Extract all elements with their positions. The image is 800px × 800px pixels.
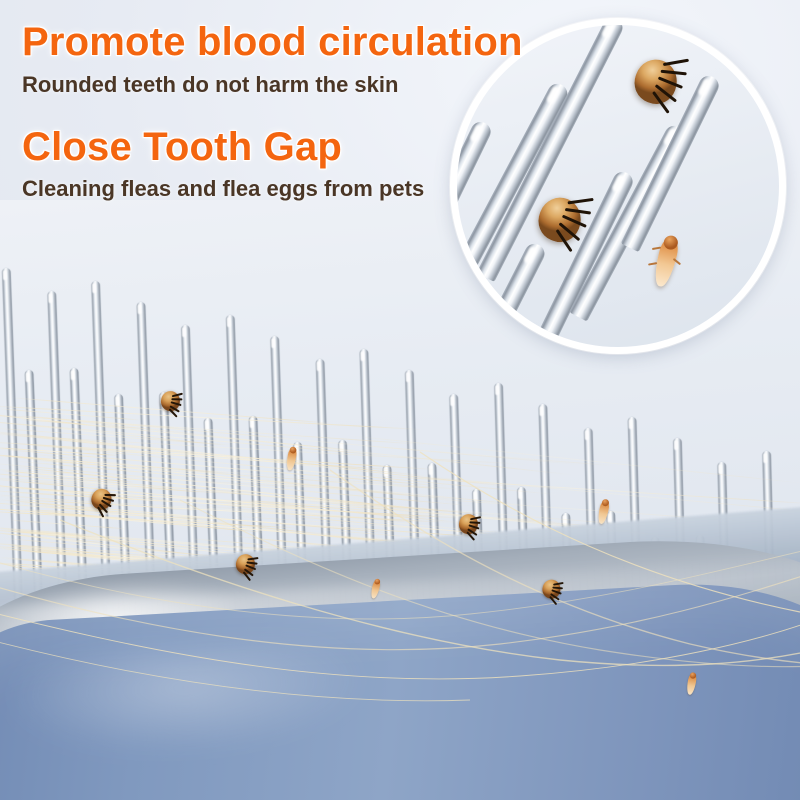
tick bbox=[155, 387, 185, 416]
magnifier-contents bbox=[457, 25, 779, 347]
parasite-leg bbox=[172, 393, 183, 398]
parasite-leg bbox=[553, 582, 564, 586]
magnified-detail-circle bbox=[450, 18, 786, 354]
parasite-leg bbox=[568, 198, 594, 205]
headline-secondary: Close Tooth Gap bbox=[22, 127, 342, 167]
parasite-leg bbox=[171, 398, 182, 400]
parasite-leg bbox=[469, 521, 480, 524]
parasite-leg bbox=[663, 59, 689, 66]
subhead-primary: Rounded teeth do not harm the skin bbox=[22, 72, 398, 98]
parasite-leg bbox=[104, 494, 116, 497]
magnified-flea bbox=[649, 235, 682, 289]
magnified-comb-pin bbox=[471, 240, 548, 354]
headline-primary: Promote blood circulation bbox=[22, 22, 523, 62]
magnified-tick bbox=[618, 47, 690, 116]
parasite-leg bbox=[470, 516, 481, 520]
parasite-leg bbox=[247, 557, 258, 561]
hair-strand bbox=[0, 405, 421, 430]
parasite-leg bbox=[661, 70, 687, 76]
hair-strand bbox=[11, 520, 127, 530]
product-feature-image: Promote blood circulation Rounded teeth … bbox=[0, 0, 800, 800]
subhead-secondary: Cleaning fleas and flea eggs from pets bbox=[22, 176, 424, 202]
parasite-leg bbox=[565, 208, 591, 215]
